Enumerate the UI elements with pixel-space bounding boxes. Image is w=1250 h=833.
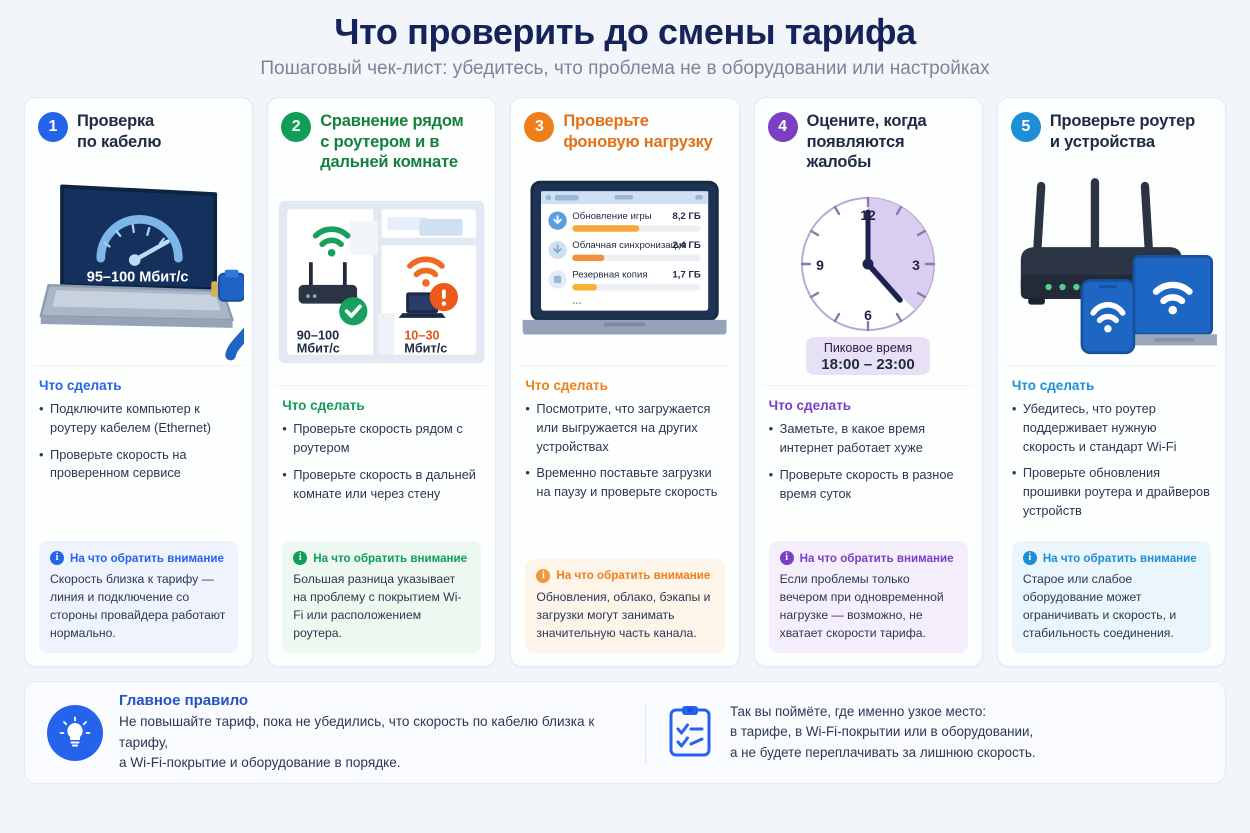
lightbulb-icon bbox=[47, 705, 103, 761]
step-card-1: 1 Проверка по кабелю bbox=[24, 97, 253, 667]
phone-device bbox=[1082, 281, 1134, 353]
card-1-note-title: На что обратить внимание bbox=[70, 552, 224, 565]
list-item: Проверьте скорость в дальней комнате или… bbox=[282, 466, 481, 504]
step-number-badge-2: 2 bbox=[281, 112, 311, 142]
card-4-note-text: Если проблемы только вечером при одновре… bbox=[780, 571, 957, 642]
footer-summary: Главное правило Не повышайте тариф, пока… bbox=[24, 681, 1226, 784]
card-5-head: 5 Проверьте роутер и устройства bbox=[998, 98, 1225, 159]
card-3-illustration: Обновление игры 8,2 ГБ Облачная синхрони… bbox=[519, 160, 730, 366]
step-card-2: 2 Сравнение рядом с роутером и в дальней… bbox=[267, 97, 496, 667]
router-led bbox=[1045, 284, 1051, 290]
card-3-what-label: Что сделать bbox=[525, 378, 724, 393]
page-title: Что проверить до смены тарифа bbox=[24, 12, 1226, 52]
card-3-note-head: i На что обратить внимание bbox=[536, 569, 713, 583]
card-5-note-head: i На что обратить внимание bbox=[1023, 551, 1200, 565]
list-item: Убедитесь, что роутер поддерживает нужну… bbox=[1012, 400, 1211, 457]
card-2-note: i На что обратить внимание Большая разни… bbox=[282, 541, 481, 653]
clock-peak-hours-icon: 12 3 6 9 Пиковое время 18:00 – 23:00 bbox=[768, 182, 968, 382]
download-size-1: 8,2 ГБ bbox=[673, 211, 702, 222]
steps-cards-row: 1 Проверка по кабелю bbox=[24, 97, 1226, 667]
download-label-1: Обновление игры bbox=[573, 211, 652, 222]
header: Что проверить до смены тарифа Пошаговый … bbox=[24, 0, 1226, 80]
card-3-note-title: На что обратить внимание bbox=[556, 569, 710, 582]
card-1-what-label: Что сделать bbox=[39, 378, 238, 393]
list-item: Проверьте скорость на проверенном сервис… bbox=[39, 446, 238, 484]
list-item: Временно поставьте загрузки на паузу и п… bbox=[525, 464, 724, 502]
card-3-steps: Посмотрите, что загружается или выгружае… bbox=[525, 400, 724, 511]
card-1-body: Что сделать Подключите компьютер к роуте… bbox=[25, 366, 252, 667]
card-2-note-head: i На что обратить внимание bbox=[293, 551, 470, 565]
card-4-head: 4 Оцените, когда появляются жалобы bbox=[755, 98, 982, 179]
infographic-page: Что проверить до смены тарифа Пошаговый … bbox=[0, 0, 1250, 833]
card-2-what-label: Что сделать bbox=[282, 398, 481, 413]
card-2-head: 2 Сравнение рядом с роутером и в дальней… bbox=[268, 98, 495, 179]
router-led bbox=[1073, 284, 1079, 290]
card-5-note: i На что обратить внимание Старое или сл… bbox=[1012, 541, 1211, 653]
footer-rule-title: Главное правило bbox=[119, 692, 627, 709]
card-5-illustration bbox=[1006, 160, 1217, 366]
step-number-badge-3: 3 bbox=[524, 112, 554, 142]
card-1-head: 1 Проверка по кабелю bbox=[25, 98, 252, 159]
card-4-title: Оцените, когда появляются жалобы bbox=[807, 111, 969, 171]
card-1-note: i На что обратить внимание Скорость близ… bbox=[39, 541, 238, 653]
list-item: Проверьте скорость рядом с роутером bbox=[282, 420, 481, 458]
card-1-steps: Подключите компьютер к роутеру кабелем (… bbox=[39, 400, 238, 492]
card-4-illustration: 12 3 6 9 Пиковое время 18:00 – 23:00 bbox=[763, 180, 974, 386]
laptop-background-downloads-icon: Обновление игры 8,2 ГБ Облачная синхрони… bbox=[519, 167, 730, 357]
more-ellipsis: ... bbox=[573, 295, 582, 307]
card-3-title: Проверьте фоновую нагрузку bbox=[563, 111, 712, 151]
info-icon: i bbox=[780, 551, 794, 565]
card-4-note-head: i На что обратить внимание bbox=[780, 551, 957, 565]
clock-tick-9: 9 bbox=[816, 257, 824, 273]
list-item: Подключите компьютер к роутеру кабелем (… bbox=[39, 400, 238, 438]
info-icon: i bbox=[1023, 551, 1037, 565]
card-5-what-label: Что сделать bbox=[1012, 378, 1211, 393]
card-1-illustration: 95–100 Мбит/с bbox=[33, 160, 244, 366]
card-4-steps: Заметьте, в какое время интернет работае… bbox=[769, 420, 968, 512]
card-5-body: Что сделать Убедитесь, что роутер поддер… bbox=[998, 366, 1225, 667]
card-5-note-text: Старое или слабое оборудование может огр… bbox=[1023, 571, 1200, 642]
card-1-note-text: Скорость близка к тарифу — линия и подкл… bbox=[50, 571, 227, 642]
step-card-4: 4 Оцените, когда появляются жалобы bbox=[754, 97, 983, 667]
download-size-3: 1,7 ГБ bbox=[673, 270, 702, 281]
footer-result: Так вы поймёте, где именно узкое место: … bbox=[646, 702, 1225, 765]
card-2-far-speed-2: Мбит/с bbox=[404, 341, 447, 356]
step-number-badge-1: 1 bbox=[38, 112, 68, 142]
footer-rule-text: Не повышайте тариф, пока не убедились, ч… bbox=[119, 712, 627, 773]
card-5-note-title: На что обратить внимание bbox=[1043, 552, 1197, 565]
clock-tick-6: 6 bbox=[864, 307, 872, 323]
step-number-badge-4: 4 bbox=[768, 112, 798, 142]
card-4-body: Что сделать Заметьте, в какое время инте… bbox=[755, 386, 982, 667]
list-item: Проверьте скорость в разное время суток bbox=[769, 466, 968, 504]
download-label-3: Резервная копия bbox=[573, 270, 648, 281]
card-1-title: Проверка по кабелю bbox=[77, 111, 161, 151]
card-3-note: i На что обратить внимание Обновления, о… bbox=[525, 559, 724, 653]
router-led bbox=[1059, 284, 1065, 290]
list-item: Проверьте обновления прошивки роутера и … bbox=[1012, 464, 1211, 521]
card-5-steps: Убедитесь, что роутер поддерживает нужну… bbox=[1012, 400, 1211, 530]
card-2-steps: Проверьте скорость рядом с роутером Пров… bbox=[282, 420, 481, 512]
card-4-what-label: Что сделать bbox=[769, 398, 968, 413]
card-2-note-text: Большая разница указывает на проблему с … bbox=[293, 571, 470, 642]
peak-time-title: Пиковое время bbox=[824, 341, 912, 355]
card-3-body: Что сделать Посмотрите, что загружается … bbox=[511, 366, 738, 667]
card-2-title: Сравнение рядом с роутером и в дальней к… bbox=[320, 111, 463, 171]
card-2-near-speed-2: Мбит/с bbox=[297, 341, 340, 356]
card-1-note-head: i На что обратить внимание bbox=[50, 551, 227, 565]
info-icon: i bbox=[50, 551, 64, 565]
footer-rule-text-block: Главное правило Не повышайте тариф, пока… bbox=[119, 692, 627, 773]
card-3-head: 3 Проверьте фоновую нагрузку bbox=[511, 98, 738, 159]
two-rooms-wifi-comparison-icon: 90–100 Мбит/с bbox=[276, 193, 487, 371]
card-1-speed-label: 95–100 Мбит/с bbox=[87, 270, 189, 286]
download-label-2: Облачная синхронизация bbox=[573, 240, 687, 251]
card-4-note-title: На что обратить внимание bbox=[800, 552, 954, 565]
page-subtitle: Пошаговый чек-лист: убедитесь, что пробл… bbox=[24, 58, 1226, 81]
card-5-title: Проверьте роутер и устройства bbox=[1050, 111, 1195, 151]
router-phone-laptop-wifi-icon bbox=[1006, 164, 1217, 360]
clock-tick-3: 3 bbox=[912, 257, 920, 273]
list-item: Заметьте, в какое время интернет работае… bbox=[769, 420, 968, 458]
list-item: Посмотрите, что загружается или выгружае… bbox=[525, 400, 724, 457]
card-2-note-title: На что обратить внимание bbox=[313, 552, 467, 565]
step-card-5: 5 Проверьте роутер и устройства bbox=[997, 97, 1226, 667]
card-2-body: Что сделать Проверьте скорость рядом с р… bbox=[268, 386, 495, 667]
download-size-2: 2,4 ГБ bbox=[673, 240, 702, 251]
card-2-illustration: 90–100 Мбит/с bbox=[276, 180, 487, 386]
card-3-note-text: Обновления, облако, бэкапы и загрузки мо… bbox=[536, 589, 713, 642]
card-4-note: i На что обратить внимание Если проблемы… bbox=[769, 541, 968, 653]
clipboard-checklist-icon bbox=[666, 703, 714, 762]
step-number-badge-5: 5 bbox=[1011, 112, 1041, 142]
laptop-ethernet-speedometer-icon: 95–100 Мбит/с bbox=[33, 162, 244, 362]
info-icon: i bbox=[293, 551, 307, 565]
footer-result-text: Так вы поймёте, где именно узкое место: … bbox=[730, 702, 1036, 765]
footer-main-rule: Главное правило Не повышайте тариф, пока… bbox=[25, 692, 645, 773]
peak-time-range: 18:00 – 23:00 bbox=[822, 356, 915, 373]
info-icon: i bbox=[536, 569, 550, 583]
step-card-3: 3 Проверьте фоновую нагрузку Обновление … bbox=[510, 97, 739, 667]
